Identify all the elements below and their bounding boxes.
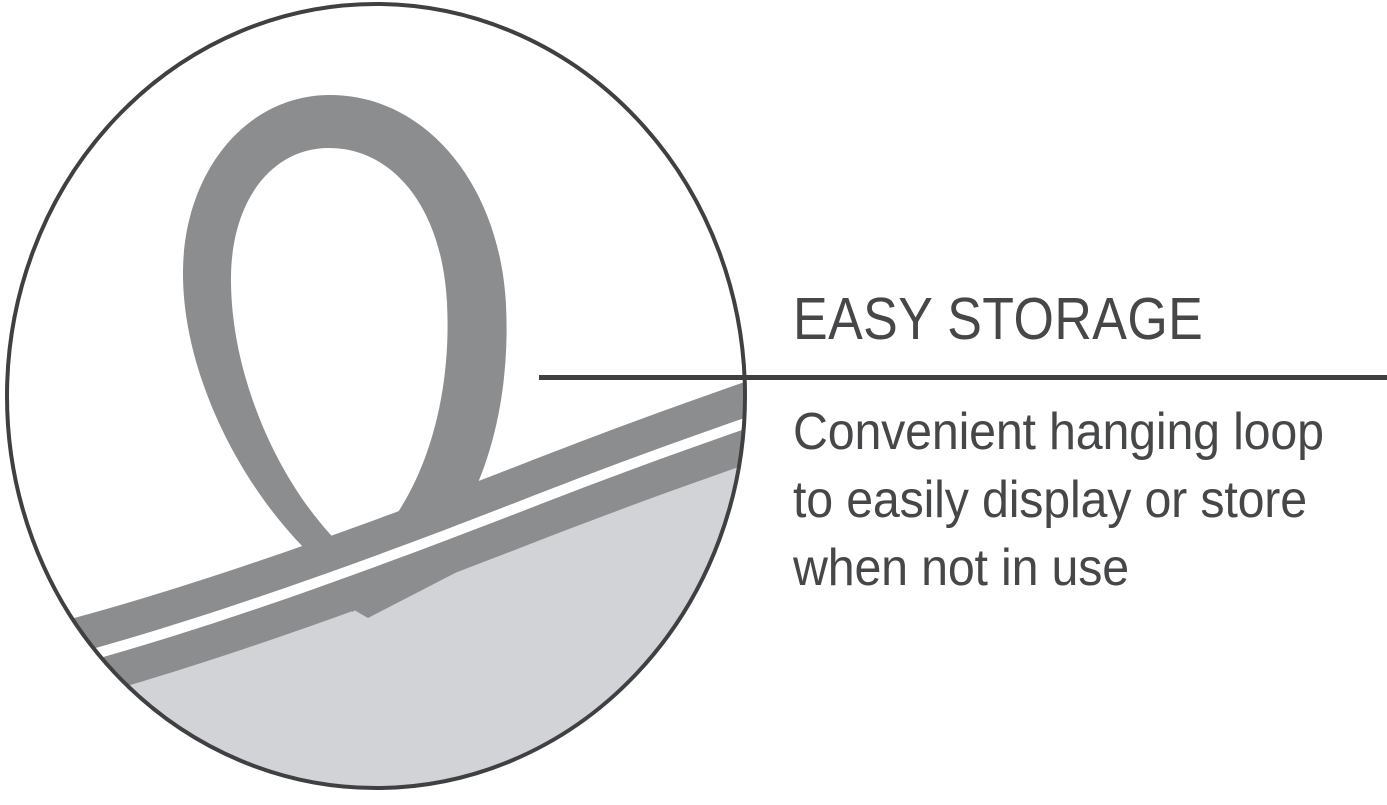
description-line-1: Convenient hanging loop <box>793 398 1351 466</box>
callout-rule <box>539 375 1387 380</box>
feature-callout-graphic: EASY STORAGE Convenient hanging loop to … <box>0 0 1387 805</box>
callout-description: Convenient hanging loop to easily displa… <box>793 398 1387 602</box>
callout-text-block: EASY STORAGE <box>793 286 1383 352</box>
description-line-2: to easily display or store <box>793 466 1351 534</box>
description-line-3: when not in use <box>793 534 1351 602</box>
page-title: EASY STORAGE <box>793 286 1312 352</box>
hanging-loop-illustration <box>0 0 800 805</box>
